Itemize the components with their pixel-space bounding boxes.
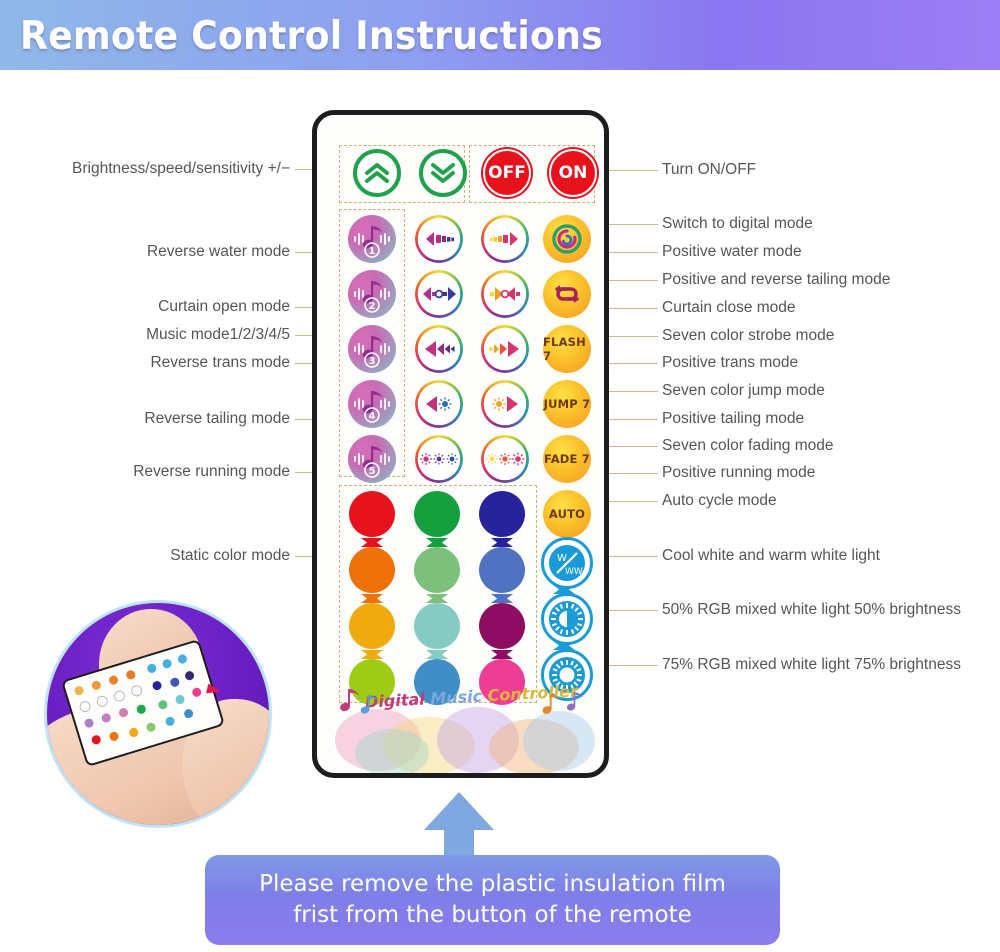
music-note-icon: 2 (350, 272, 394, 316)
reverse-running-mode-button[interactable] (415, 435, 463, 483)
auto-button[interactable]: AUTO (543, 490, 591, 538)
color-connector (491, 538, 513, 547)
label-right-13: 50% RGB mixed white light 50% brightness (662, 601, 961, 619)
leader-line-right-2 (604, 252, 658, 253)
positive-running-mode-icon (481, 435, 529, 483)
music-note-icon: 4 (350, 382, 394, 426)
color-connector (491, 594, 513, 603)
label-right-8: Positive tailing mode (662, 410, 804, 428)
leader-line-right-10 (604, 473, 658, 474)
page-title: Remote Control Instructions (20, 14, 603, 59)
fade-7-button[interactable]: FADE 7 (543, 435, 591, 483)
music-note-icon: 3 (350, 327, 394, 371)
banner-line-1: Please remove the plastic insulation fil… (259, 871, 726, 897)
amber-button-label: JUMP 7 (544, 397, 591, 411)
static-color-button-r0-c1[interactable] (414, 491, 460, 537)
label-left-4: Reverse trans mode (150, 354, 290, 372)
label-right-3: Positive and reverse tailing mode (662, 271, 890, 289)
flash-7-button[interactable]: FLASH 7 (543, 325, 591, 373)
half-sun-glyph (549, 601, 585, 637)
label-left-2: Curtain open mode (158, 298, 290, 316)
music-mode-5-button[interactable]: 5 (348, 435, 396, 483)
remote-control-body: OFF ON 12345 FLASH 7JUMP 7FADE 7AUTO W W… (312, 110, 609, 778)
label-right-12: Cool white and warm white light (662, 547, 880, 565)
label-right-0: Turn ON/OFF (662, 161, 756, 179)
static-color-button-r2-c1[interactable] (414, 603, 460, 649)
svg-text:WW: WW (565, 567, 583, 577)
positive-tailing-mode-icon (481, 380, 529, 428)
leader-line-right-5 (604, 336, 658, 337)
svg-text:W: W (557, 553, 567, 564)
amber-button-label: FLASH 7 (543, 335, 591, 363)
positive-trans-mode-icon (481, 325, 529, 373)
leader-line-right-4 (604, 308, 658, 309)
color-connector (361, 538, 383, 547)
on-button[interactable]: ON (549, 149, 597, 197)
positive-trans-mode-button[interactable] (481, 325, 529, 373)
leader-line-right-0 (604, 170, 658, 171)
positive-tailing-mode-button[interactable] (481, 380, 529, 428)
music-mode-4-button[interactable]: 4 (348, 380, 396, 428)
label-right-1: Switch to digital mode (662, 215, 813, 233)
static-color-button-r1-c1[interactable] (414, 547, 460, 593)
music-mode-1-button[interactable]: 1 (348, 215, 396, 263)
banner-line-2: frist from the button of the remote (293, 902, 692, 928)
label-right-5: Seven color strobe mode (662, 327, 834, 345)
w-ww-icon: W WW (547, 543, 587, 583)
leader-line-right-13 (604, 610, 658, 611)
leader-line-right-8 (604, 419, 658, 420)
curtain-open-mode-button[interactable] (415, 270, 463, 318)
music-mode-number: 1 (369, 246, 376, 257)
remote-brand-area: Digital Music Controller (317, 681, 604, 773)
static-color-button-r0-c0[interactable] (349, 491, 395, 537)
label-left-0: Brightness/speed/sensitivity +/− (72, 160, 290, 178)
reverse-water-mode-icon (415, 215, 463, 263)
label-right-9: Seven color fading mode (662, 437, 833, 455)
reverse-trans-mode-button[interactable] (415, 325, 463, 373)
color-connector (361, 650, 383, 659)
label-left-3: Music mode1/2/3/4/5 (146, 326, 290, 344)
music-mode-3-button[interactable]: 3 (348, 325, 396, 373)
rgb-white-50-button[interactable] (541, 593, 593, 645)
switch-to-digital-mode-button[interactable] (543, 215, 591, 263)
brand-word-2: Music (430, 686, 483, 708)
curtain-open-mode-icon (415, 270, 463, 318)
leader-line-right-6 (604, 363, 658, 364)
off-label: OFF (488, 163, 526, 183)
label-right-2: Positive water mode (662, 243, 802, 261)
photo-inset-hands-holding-remote (44, 600, 272, 828)
music-notes-icon-right (538, 685, 590, 719)
jump-7-button[interactable]: JUMP 7 (543, 380, 591, 428)
up-arrow-icon (420, 790, 498, 860)
positive-and-reverse-tailing-mode-button[interactable] (543, 270, 591, 318)
label-left-1: Reverse water mode (147, 243, 290, 261)
label-right-14: 75% RGB mixed white light 75% brightness (662, 656, 961, 674)
amber-button-label: AUTO (549, 507, 585, 521)
label-right-6: Positive trans mode (662, 354, 798, 372)
label-right-7: Seven color jump mode (662, 382, 825, 400)
label-right-11: Auto cycle mode (662, 492, 777, 510)
swirl-icon (550, 222, 584, 256)
reverse-running-mode-icon (415, 435, 463, 483)
static-color-button-r0-c2[interactable] (479, 491, 525, 537)
leader-line-right-11 (604, 501, 658, 502)
leader-line-right-1 (604, 224, 658, 225)
reverse-tailing-mode-icon (415, 380, 463, 428)
brightness-down-button[interactable] (419, 149, 467, 197)
brightness-up-button[interactable] (353, 149, 401, 197)
reverse-tailing-mode-button[interactable] (415, 380, 463, 428)
music-notes-icon-left (335, 683, 381, 717)
banner-text: Please remove the plastic insulation fil… (259, 869, 726, 931)
w-ww-glyph: W WW (550, 546, 584, 580)
label-left-7: Static color mode (170, 547, 290, 565)
color-connector (491, 650, 513, 659)
leader-line-right-12 (604, 556, 658, 557)
color-connector (426, 594, 448, 603)
music-mode-2-button[interactable]: 2 (348, 270, 396, 318)
leader-line-right-9 (604, 446, 658, 447)
leader-line-right-7 (604, 391, 658, 392)
music-note-icon: 5 (350, 437, 394, 481)
label-left-6: Reverse running mode (133, 463, 290, 481)
cool-warm-white-button[interactable]: W WW (541, 537, 593, 589)
reverse-trans-mode-icon (415, 325, 463, 373)
positive-water-mode-icon (481, 215, 529, 263)
music-mode-number: 2 (369, 301, 376, 312)
music-mode-number: 5 (369, 466, 376, 477)
reverse-water-mode-button[interactable] (415, 215, 463, 263)
label-left-5: Reverse tailing mode (144, 410, 290, 428)
music-note-icon: 1 (350, 217, 394, 261)
double-chevron-down-icon (430, 162, 456, 184)
positive-running-mode-button[interactable] (481, 435, 529, 483)
leader-line-right-3 (604, 280, 658, 281)
label-right-4: Curtain close mode (662, 299, 796, 317)
static-color-button-r1-c0[interactable] (349, 547, 395, 593)
static-color-button-r2-c2[interactable] (479, 603, 525, 649)
static-color-button-r2-c0[interactable] (349, 603, 395, 649)
positive-water-mode-button[interactable] (481, 215, 529, 263)
curtain-close-mode-button[interactable] (481, 270, 529, 318)
leader-line-right-14 (604, 665, 658, 666)
color-connector (426, 538, 448, 547)
label-right-10: Positive running mode (662, 464, 815, 482)
curtain-close-mode-icon (481, 270, 529, 318)
page-header: Remote Control Instructions (0, 0, 1000, 70)
color-connector (426, 650, 448, 659)
music-mode-number: 4 (369, 411, 376, 422)
amber-button-label: FADE 7 (544, 452, 590, 466)
half-sun-icon (547, 599, 587, 639)
on-label: ON (559, 163, 588, 183)
music-mode-number: 3 (369, 356, 376, 367)
static-color-button-r1-c2[interactable] (479, 547, 525, 593)
insulation-film-notice-banner: Please remove the plastic insulation fil… (205, 855, 780, 945)
loop-arrows-icon (551, 278, 583, 310)
double-chevron-up-icon (364, 162, 390, 184)
off-button[interactable]: OFF (483, 149, 531, 197)
color-connector (361, 594, 383, 603)
